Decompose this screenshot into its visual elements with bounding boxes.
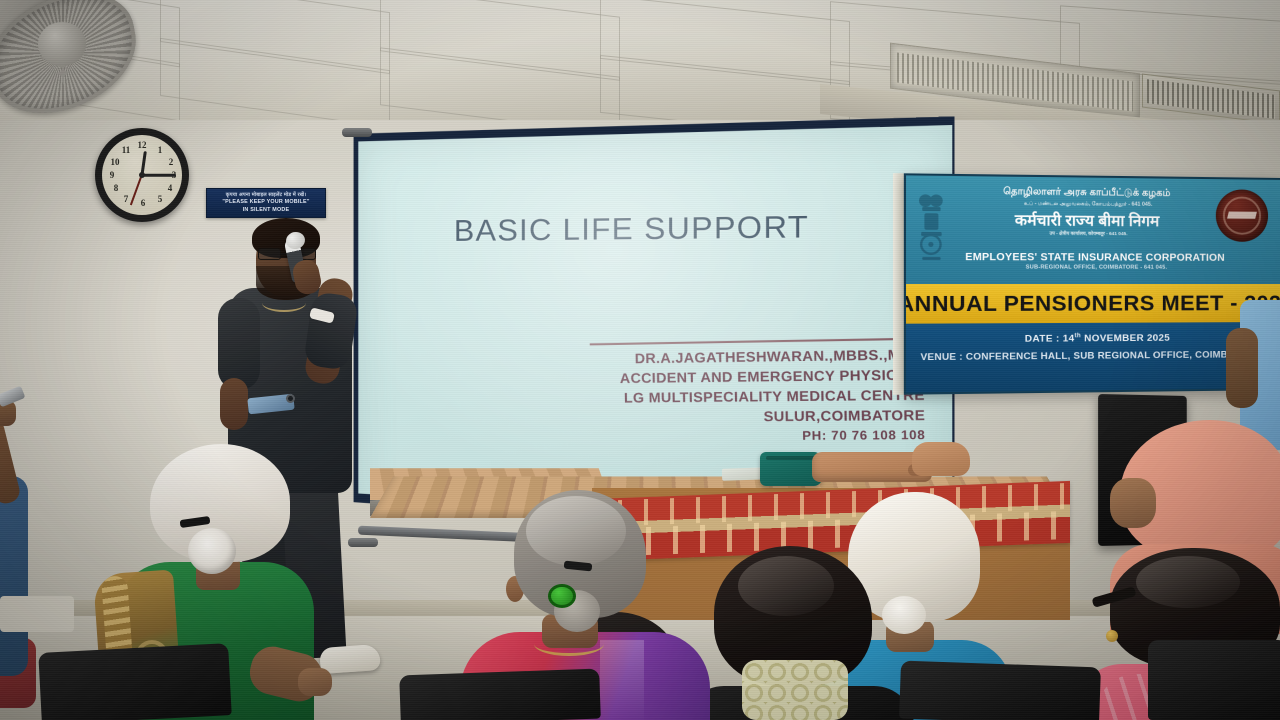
banner-details-section: DATE : 14th NOVEMBER 2025 VENUE : CONFER… — [906, 322, 1280, 395]
wall-clock: 12 1 2 3 4 5 6 7 8 9 10 11 — [95, 128, 189, 222]
clock-numeral: 5 — [154, 194, 166, 204]
banner-tamil-sub: உப் - மண்டல அலுவலகம், கோயம்பத்தூர் - 641… — [956, 200, 1218, 209]
screen-bracket-top — [342, 128, 372, 137]
banner-hindi-org: कर्मचारी राज्य बीमा निगम — [951, 209, 1220, 231]
audience-jasmine-flower-lady — [690, 546, 910, 720]
notice-line-1: "PLEASE KEEP YOUR MOBILE" — [222, 199, 309, 207]
clock-center-pin — [139, 172, 145, 178]
earring-icon — [1106, 630, 1118, 642]
clock-numeral: 11 — [120, 145, 132, 155]
banner-english-sub: SUB-REGIONAL OFFICE, COIMBATORE - 641 04… — [917, 264, 1270, 271]
clock-numeral: 1 — [154, 145, 166, 155]
notice-hindi-line: कृपया अपना मोबाइल साइलेंट मोड में रखें। — [226, 192, 306, 200]
banner-date-rest: NOVEMBER 2025 — [1081, 333, 1170, 345]
event-banner: தொழிலாளர் அரசு காப்பீட்டுக் கழகம் உப் - … — [893, 173, 1280, 395]
credit-line: SULUR,COIMBATORE — [621, 405, 926, 427]
audience-chair — [399, 669, 601, 720]
banner-hindi-sub: उप - क्षेत्रीय कार्यालय, कोयम्बतूर - 641… — [956, 230, 1218, 238]
slide-presenter-credits: DR.A.JAGATHESHWARAN.,MBBS.,MEM ACCIDENT … — [620, 344, 926, 446]
clock-numeral: 9 — [106, 170, 118, 180]
banner-venue: VENUE : CONFERENCE HALL, SUB REGIONAL OF… — [904, 348, 1280, 362]
silent-mode-notice-sign: कृपया अपना मोबाइल साइलेंट मोड में रखें। … — [206, 188, 326, 218]
banner-english-org: EMPLOYEES' STATE INSURANCE CORPORATION — [917, 252, 1270, 264]
audience-chair — [899, 661, 1101, 720]
banner-event-title: ANNUAL PENSIONERS MEET - 2025 — [904, 290, 1280, 316]
clock-numeral: 10 — [109, 157, 121, 167]
clock-numeral: 12 — [136, 140, 148, 150]
jasmine-garland — [742, 660, 848, 720]
audience-chair — [38, 643, 232, 720]
clock-numeral: 8 — [110, 183, 122, 193]
conference-hall-photo: 12 1 2 3 4 5 6 7 8 9 10 11 कृपया अपना मो… — [0, 0, 1280, 720]
clock-numeral: 4 — [164, 183, 176, 193]
clock-minute-hand — [142, 174, 176, 177]
esic-logo-icon — [1216, 189, 1268, 242]
wall-fan-icon — [0, 0, 170, 118]
cpr-manikin — [800, 440, 980, 486]
credit-line: LG MULTISPECIALITY MEDICAL CENTRE — [620, 385, 925, 408]
audience-chair — [1148, 640, 1280, 720]
side-table — [0, 596, 74, 632]
banner-date: DATE : 14th NOVEMBER 2025 — [906, 332, 1280, 346]
banner-date-label: DATE : 14 — [1025, 333, 1075, 345]
banner-tamil-org: தொழிலாளர் அரசு காப்பீட்டுக் கழகம் — [951, 185, 1220, 200]
banner-event-title-bar: ANNUAL PENSIONERS MEET - 2025 — [904, 284, 1280, 324]
banner-header-section: தொழிலாளர் அரசு காப்பீட்டுக் கழகம் உப் - … — [906, 175, 1280, 285]
presenter-pocket-badge — [286, 394, 295, 403]
notice-line-2: IN SILENT MODE — [243, 207, 290, 215]
slide-title: BASIC LIFE SUPPORT — [355, 209, 919, 250]
clock-numeral: 6 — [137, 198, 149, 208]
clock-numeral: 2 — [165, 157, 177, 167]
hair-scrunchie-icon — [548, 584, 576, 608]
